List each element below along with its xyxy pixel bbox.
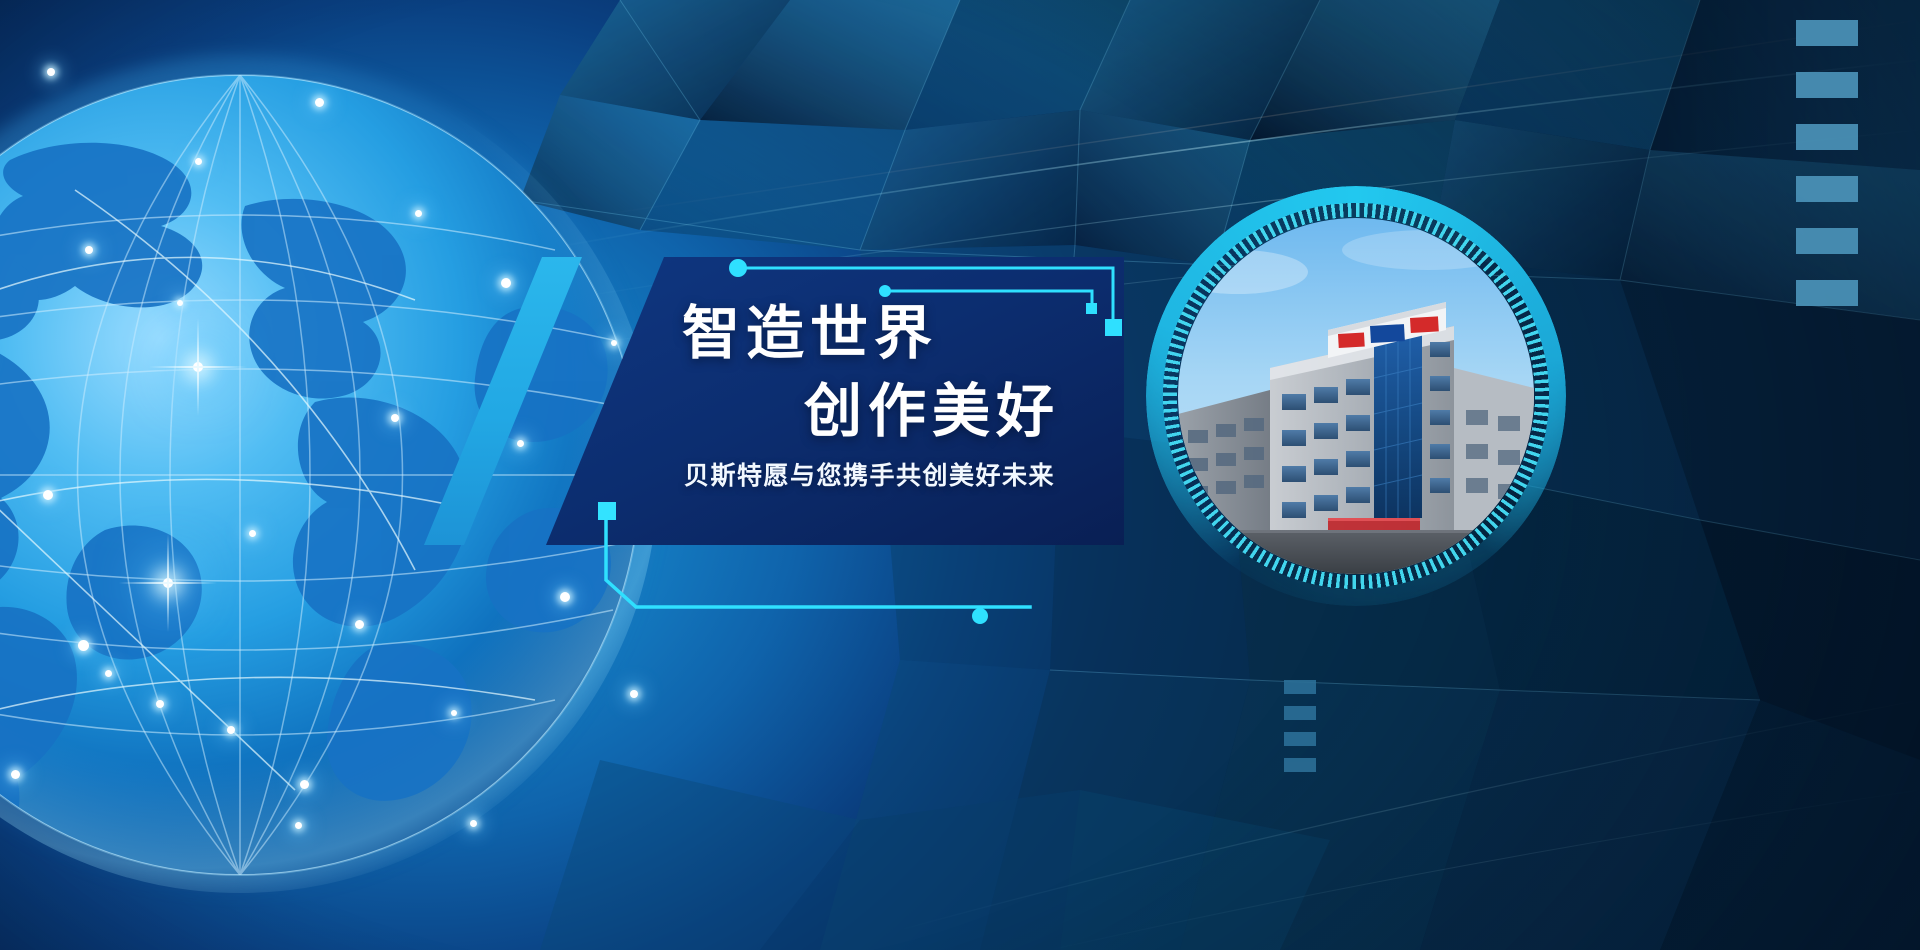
edge-dash-markers [1796, 20, 1858, 332]
edge-dash-6 [1796, 280, 1858, 306]
subtitle-text: 贝斯特愿与您携手共创美好未来 [684, 464, 1055, 489]
headline-line-1: 智造世界 [682, 305, 938, 363]
edge-dash-5 [1796, 228, 1858, 254]
hero-banner: 智造世界 创作美好 贝斯特愿与您携手共创美好未来 [0, 0, 1920, 950]
edge-dash-2 [1796, 72, 1858, 98]
building-photo [1178, 218, 1534, 574]
accent-square [598, 502, 616, 520]
lower-dash-markers [1280, 680, 1320, 880]
edge-dash-4 [1796, 176, 1858, 202]
bottom-accent-dot [960, 596, 1000, 636]
edge-dash-3 [1796, 124, 1858, 150]
headline-line-2: 创作美好 [804, 383, 1060, 441]
building-photo-circle [1146, 186, 1566, 606]
edge-dash-1 [1796, 20, 1858, 46]
